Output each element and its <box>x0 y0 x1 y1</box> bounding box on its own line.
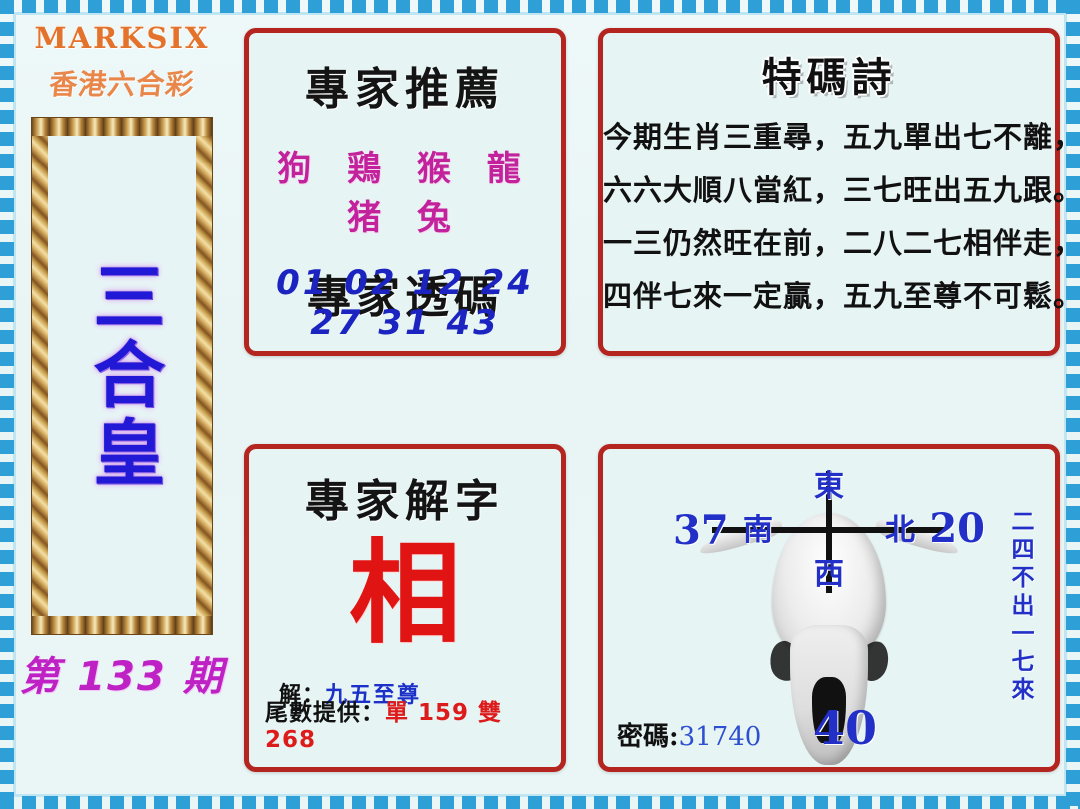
skull-number-left: 37 <box>673 507 729 554</box>
direction-west-label: 西 <box>814 549 844 593</box>
featured-character: 相 <box>249 535 561 653</box>
tail-number-row: 尾數提供：單 159 雙 268 <box>265 693 561 753</box>
skull-number-right: 20 <box>929 505 985 552</box>
poem-title: 特碼詩 <box>603 45 1055 103</box>
left-branding-column: MARKSIX 香港六合彩 三合皇 第 133 期 <box>16 14 228 794</box>
expert-character-header: 專家解字 <box>249 465 561 529</box>
gold-frame-inner: 三合皇 <box>48 136 196 616</box>
poem-line-1: 今期生肖三重尋，五九單出七不離， <box>603 114 1055 156</box>
border-dashes-left <box>0 0 14 809</box>
skull-compass-panel[interactable]: 東 南 西 北 37 20 40 二四不出一七來 密碼:31740 <box>598 444 1060 772</box>
direction-north-label: 北 <box>885 505 915 549</box>
zodiac-list: 狗 鶏 猴 龍 猪 兔 <box>249 141 561 239</box>
poem-line-2: 六六大順八當紅，三七旺出五九跟。 <box>603 167 1055 209</box>
tail-number-label: 尾數提供： <box>265 700 385 726</box>
secret-code-label: 密碼: <box>617 722 679 752</box>
border-dashes-bottom <box>0 796 1080 809</box>
vertical-main-title: 三合皇 <box>84 259 160 493</box>
skull-image-area: 東 南 西 北 37 20 40 二四不出一七來 密碼:31740 <box>603 449 1055 767</box>
direction-south-label: 南 <box>743 505 773 549</box>
brand-chinese-title: 香港六合彩 <box>14 63 230 103</box>
skull-number-bottom: 40 <box>813 701 877 755</box>
expert-character-panel[interactable]: 專家解字 相 解：九五至尊 尾數提供：單 159 雙 268 <box>244 444 566 772</box>
poem-line-3: 一三仍然旺在前，二八二七相伴走， <box>603 220 1055 262</box>
direction-east-label: 東 <box>814 461 844 505</box>
expert-recommendation-panel[interactable]: 專家推薦 狗 鶏 猴 龍 猪 兔 專家透碼 01 02 12 24 27 31 … <box>244 28 566 356</box>
brand-latin-title: MARKSIX <box>16 24 228 53</box>
border-dashes-top <box>0 0 1080 13</box>
secret-code-value: 31740 <box>679 722 762 752</box>
lottery-numbers: 01 02 12 24 27 31 43 <box>249 263 561 343</box>
border-dashes-right <box>1066 0 1080 809</box>
gold-ornate-frame: 三合皇 <box>32 118 212 634</box>
special-code-poem-panel[interactable]: 特碼詩 今期生肖三重尋，五九單出七不離， 六六大順八當紅，三七旺出五九跟。 一三… <box>598 28 1060 356</box>
secret-code-row: 密碼:31740 <box>617 716 761 753</box>
expert-recommendation-header: 專家推薦 <box>249 53 561 117</box>
poster-canvas: MARKSIX 香港六合彩 三合皇 第 133 期 專家推薦 狗 鶏 猴 龍 猪… <box>0 0 1080 809</box>
poem-line-4: 四伴七來一定贏，五九至尊不可鬆。 <box>603 273 1055 315</box>
skull-vertical-hint: 二四不出一七來 <box>1003 509 1037 705</box>
issue-number-label: 第 133 期 <box>16 644 228 702</box>
